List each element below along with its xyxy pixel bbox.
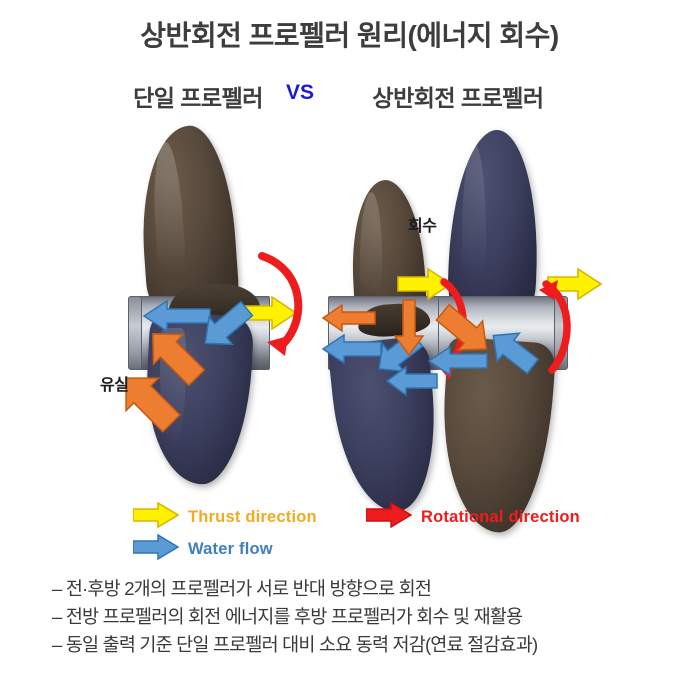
legend-item-rotation: Rotational direction bbox=[366, 502, 580, 533]
legend-label-rotation: Rotational direction bbox=[421, 508, 580, 527]
label-vs: VS bbox=[269, 81, 331, 105]
callout-recovery: 회수 bbox=[408, 212, 436, 236]
label-contra-rotating-propeller: 상반회전 프로펠러 bbox=[328, 79, 588, 113]
recovery-arrow-contra-left bbox=[322, 304, 376, 332]
legend-item-water-flow: Water flow bbox=[133, 534, 273, 565]
legend-item-thrust: Thrust direction bbox=[133, 502, 317, 533]
water-flow-arrow-contra-5 bbox=[386, 366, 438, 396]
yellow-arrow-icon bbox=[133, 502, 179, 533]
label-single-propeller: 단일 프로펠러 bbox=[118, 79, 278, 113]
note-bullet-3: – 동일 출력 기준 단일 프로펠러 대비 소요 동력 저감(연료 절감효과) bbox=[0, 631, 699, 659]
rotation-arrow-single bbox=[252, 248, 314, 363]
diagram-page: 상반회전 프로펠러 원리(에너지 회수) 단일 프로펠러 VS 상반회전 프로펠… bbox=[0, 0, 699, 689]
note-bullet-2: – 전방 프로펠러의 회전 에너지를 후방 프로펠러가 회수 및 재활용 bbox=[0, 603, 699, 631]
recovery-arrow-contra-diag bbox=[434, 302, 496, 360]
callout-loss: 유실 bbox=[100, 371, 128, 395]
legend-label-thrust: Thrust direction bbox=[188, 508, 317, 527]
recovery-arrow-contra-down bbox=[394, 300, 424, 356]
blue-arrow-icon bbox=[133, 534, 179, 565]
comparison-header: 단일 프로펠러 VS 상반회전 프로펠러 bbox=[0, 79, 699, 113]
page-title: 상반회전 프로펠러 원리(에너지 회수) bbox=[0, 14, 699, 54]
illustration-area: 유실 bbox=[0, 118, 699, 488]
red-arrow-icon bbox=[366, 502, 412, 533]
legend-label-water-flow: Water flow bbox=[188, 540, 273, 559]
legend: Thrust direction Rotational direction Wa… bbox=[0, 498, 699, 560]
notes-list: – 전·후방 2개의 프로펠러가 서로 반대 방향으로 회전 – 전방 프로펠러… bbox=[0, 575, 699, 659]
note-bullet-1: – 전·후방 2개의 프로펠러가 서로 반대 방향으로 회전 bbox=[0, 575, 699, 603]
